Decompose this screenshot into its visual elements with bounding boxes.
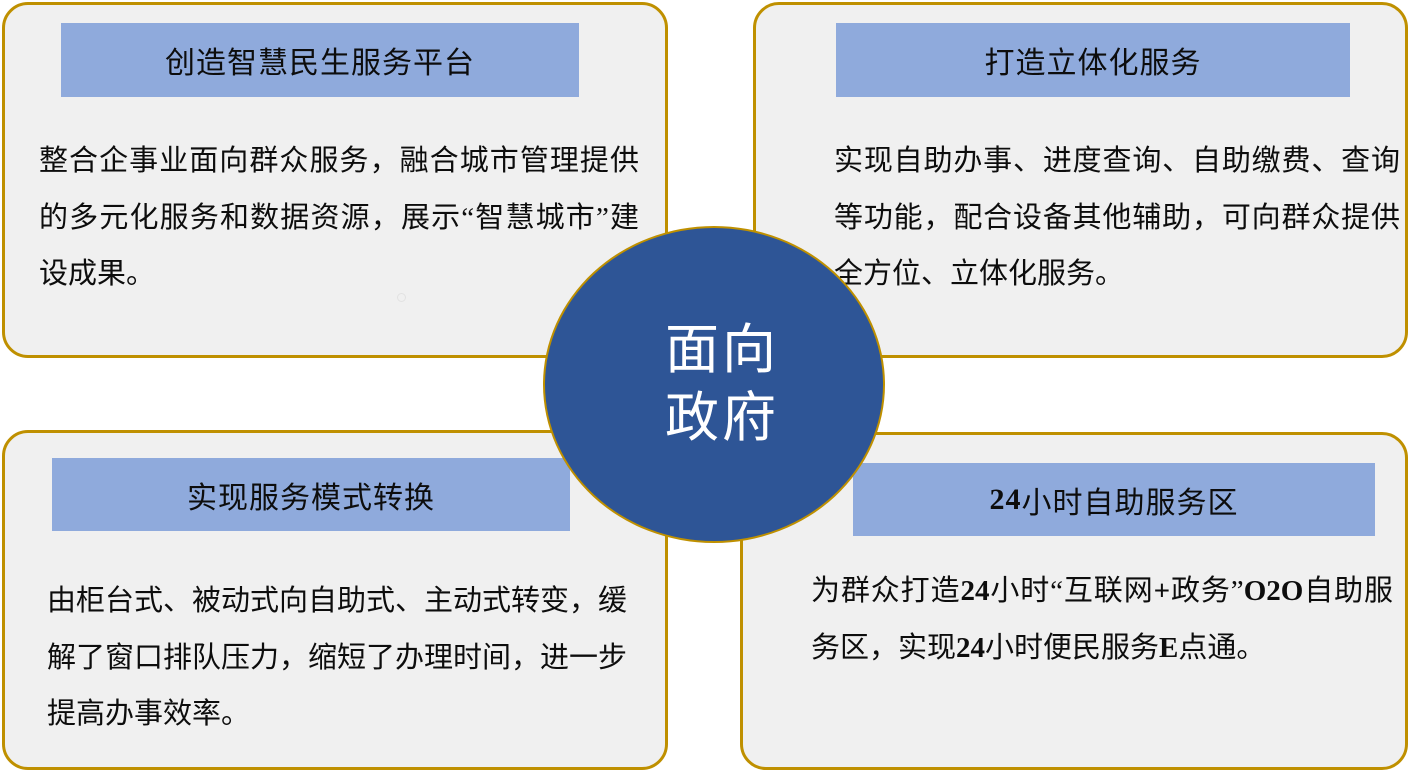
panel-bottom-right-body: 为群众打造24小时“互联网+政务”O2O自助服务区，实现24小时便民服务E点通。 xyxy=(811,563,1393,676)
diagram-canvas: 创造智慧民生服务平台 整合企事业面向群众服务，融合城市管理提供的多元化服务和数据… xyxy=(0,0,1419,777)
panel-top-right-body: 实现自助办事、进度查询、自助缴费、查询等功能，配合设备其他辅助，可向群众提供全方… xyxy=(834,133,1400,303)
body-fragment-8: 小时便民服务 xyxy=(985,632,1159,664)
body-fragment-0: 为群众打造 xyxy=(811,575,960,607)
body-fragment-7: 24 xyxy=(956,632,985,664)
decorative-circle-mark xyxy=(397,293,406,302)
body-fragment-5: O2O xyxy=(1244,575,1304,607)
body-fragment-2: 小时“互联网 xyxy=(989,575,1153,607)
panel-bottom-left[interactable]: 实现服务模式转换 由柜台式、被动式向自助式、主动式转变，缓解了窗口排队压力，缩短… xyxy=(2,430,668,770)
panel-top-left-title: 创造智慧民生服务平台 xyxy=(61,23,579,97)
center-node-label: 面向 政府 xyxy=(665,317,779,452)
panel-bottom-right-title-number: 24 xyxy=(990,483,1022,517)
panel-bottom-right-title-rest: 小时自助服务区 xyxy=(1022,478,1239,522)
panel-top-right-title: 打造立体化服务 xyxy=(836,23,1350,97)
panel-bottom-left-title: 实现服务模式转换 xyxy=(52,458,570,531)
panel-bottom-left-body: 由柜台式、被动式向自助式、主动式转变，缓解了窗口排队压力，缩短了办理时间，进一步… xyxy=(47,573,627,743)
center-node-government[interactable]: 面向 政府 xyxy=(543,226,885,543)
body-fragment-1: 24 xyxy=(960,575,989,607)
body-fragment-10: 点通。 xyxy=(1178,632,1265,664)
body-fragment-9: E xyxy=(1159,632,1178,664)
body-fragment-3: + xyxy=(1154,575,1171,607)
panel-top-left-body: 整合企事业面向群众服务，融合城市管理提供的多元化服务和数据资源，展示“智慧城市”… xyxy=(39,133,639,303)
body-fragment-4: 政务” xyxy=(1170,575,1244,607)
panel-bottom-right-title: 24小时自助服务区 xyxy=(853,463,1375,536)
